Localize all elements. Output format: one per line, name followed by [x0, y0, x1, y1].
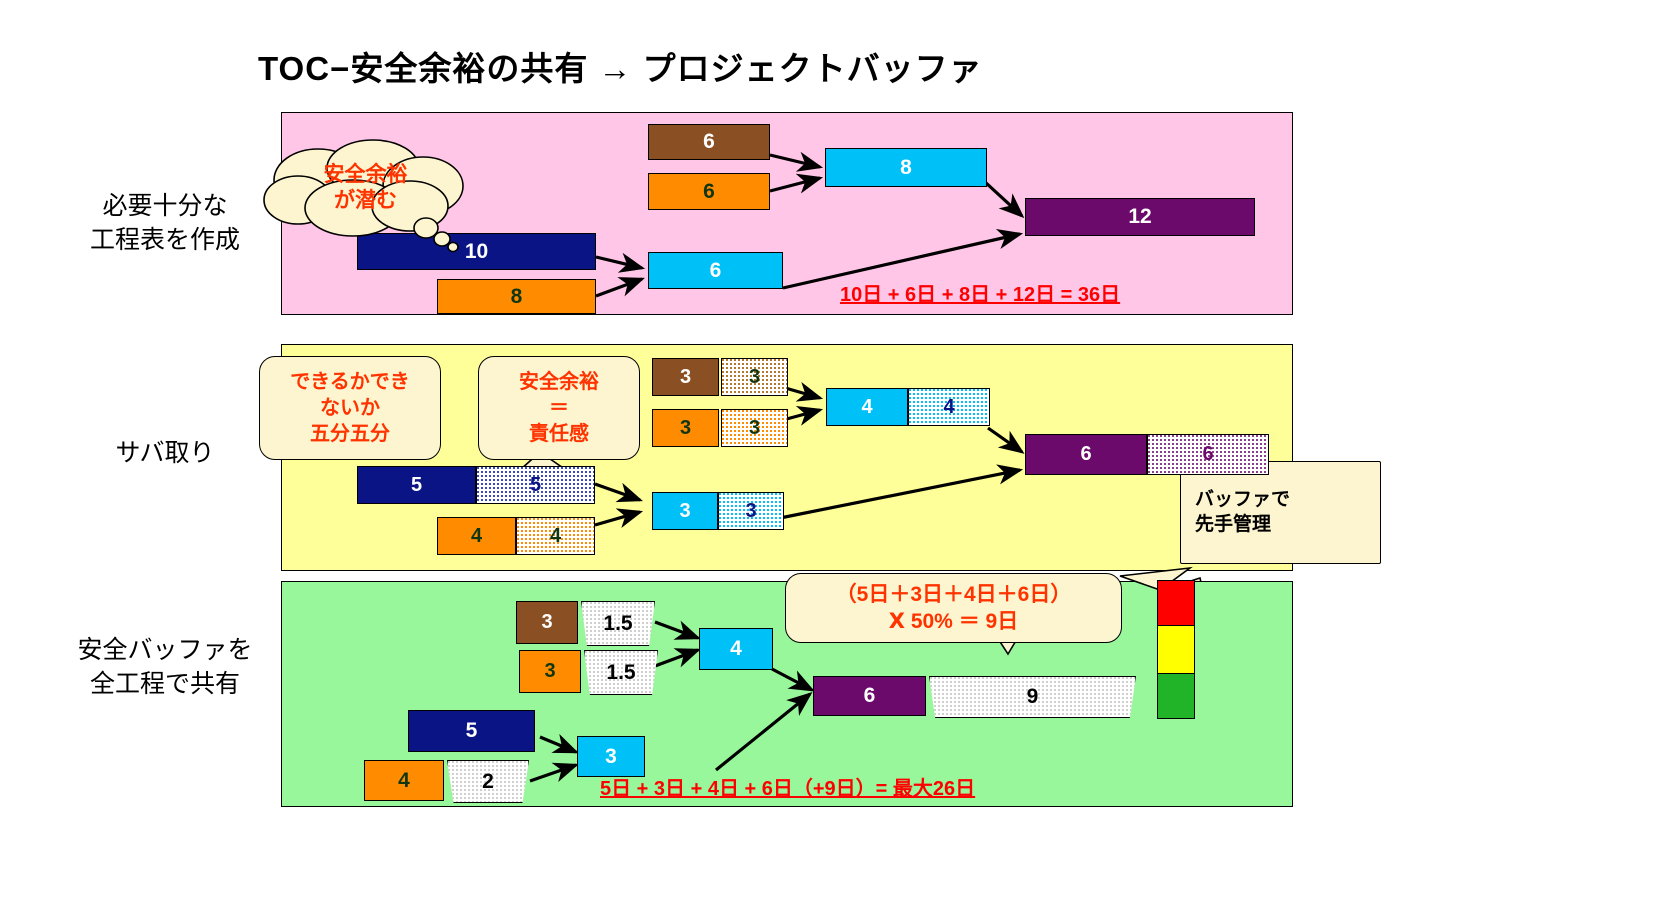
bar-cyan-3[interactable]: 3 [652, 492, 718, 530]
row-label-2-line1: サバ取り [60, 437, 270, 471]
buffer-zone-green [1158, 674, 1194, 718]
margin-cyan-4[interactable]: 4 [908, 388, 990, 426]
bar-navy-5[interactable]: 5 [357, 466, 476, 504]
bar-purple-6[interactable]: 6 [1025, 434, 1147, 475]
thought-cloud-safety-margin: 安全余裕 が潜む [258, 138, 473, 238]
row-label-1: 必要十分な 工程表を作成 [60, 190, 270, 258]
buffer-project-9[interactable]: 9 [929, 676, 1136, 718]
callout-responsibility-line2: ＝ [519, 395, 599, 421]
callout-fifty-fifty-line1: できるかでき [290, 369, 410, 395]
buffer-p3-orange-2[interactable]: 2 [447, 760, 529, 803]
bar-p3-brown-3[interactable]: 3 [516, 601, 578, 644]
margin-brown-3[interactable]: 3 [721, 358, 788, 396]
callout-buffer-calculation: （5日＋3日＋4日＋6日） Ⅹ 50% ＝ 9日 [785, 573, 1122, 643]
margin-purple-6[interactable]: 6 [1147, 434, 1269, 475]
bar-p3-orange-3[interactable]: 3 [519, 650, 581, 693]
margin-orange-4[interactable]: 4 [516, 517, 595, 555]
row-label-2: サバ取り [60, 437, 270, 471]
callout-buffer-line2: 先手管理 [1195, 513, 1290, 538]
bar-orange-4[interactable]: 4 [437, 517, 516, 555]
bar-cyan-6[interactable]: 6 [648, 252, 783, 289]
buffer-p3-orange-1_5[interactable]: 1.5 [584, 650, 658, 695]
callout-responsibility-line3: 責任感 [519, 421, 599, 447]
row-label-1-line2: 工程表を作成 [60, 224, 270, 258]
buffer-zone-red [1158, 581, 1194, 626]
bar-orange-8[interactable]: 8 [437, 279, 596, 314]
formula-panel1: 10日 + 6日 + 8日 + 12日 = 36日 [840, 278, 1120, 307]
bar-brown-6[interactable]: 6 [648, 124, 770, 160]
margin-cyan-3[interactable]: 3 [718, 492, 784, 530]
cloud-text: 安全余裕 が潜む [258, 162, 473, 215]
callout-fifty-fifty: できるかでき ないか 五分五分 [259, 356, 441, 460]
bar-orange-3[interactable]: 3 [652, 409, 719, 447]
callout-buffer-calc-line1: （5日＋3日＋4日＋6日） [836, 581, 1072, 608]
formula-panel3: 5日 + 3日 + 4日 + 6日（+9日）= 最大26日 [600, 772, 975, 801]
cloud-text-line2: が潜む [258, 188, 473, 214]
row-label-3: 安全バッファを 全工程で共有 [45, 634, 285, 702]
page-title: TOC−安全余裕の共有 → プロジェクトバッファ [258, 42, 983, 90]
buffer-p3-brown-1_5[interactable]: 1.5 [581, 601, 655, 646]
row-label-1-line1: 必要十分な [60, 190, 270, 224]
bar-purple-12[interactable]: 12 [1025, 198, 1255, 236]
bar-p3-navy-5[interactable]: 5 [408, 710, 535, 752]
bar-p3-cyan-4[interactable]: 4 [699, 628, 773, 670]
bar-p3-orange-4[interactable]: 4 [364, 760, 444, 801]
callout-fifty-fifty-line2: ないか [290, 395, 410, 421]
bar-brown-3[interactable]: 3 [652, 358, 719, 396]
callout-buffer-line1: バッファで [1195, 488, 1290, 513]
cloud-text-line1: 安全余裕 [258, 162, 473, 188]
margin-navy-5[interactable]: 5 [476, 466, 595, 504]
callout-fifty-fifty-line3: 五分五分 [290, 421, 410, 447]
bar-cyan-4[interactable]: 4 [826, 388, 908, 426]
margin-orange-3[interactable]: 3 [721, 409, 788, 447]
buffer-zone-yellow [1158, 626, 1194, 674]
bar-orange-6[interactable]: 6 [648, 173, 770, 210]
bar-cyan-8[interactable]: 8 [825, 148, 987, 187]
row-label-3-line1: 安全バッファを [45, 634, 285, 668]
buffer-traffic-light[interactable] [1157, 580, 1195, 719]
callout-buffer-management: バッファで 先手管理 [1180, 461, 1381, 564]
callout-buffer-calc-line2: Ⅹ 50% ＝ 9日 [836, 608, 1072, 635]
row-label-3-line2: 全工程で共有 [45, 668, 285, 702]
callout-responsibility: 安全余裕 ＝ 責任感 [478, 356, 640, 460]
bar-p3-purple-6[interactable]: 6 [813, 676, 926, 716]
callout-responsibility-line1: 安全余裕 [519, 369, 599, 395]
bar-p3-cyan-3[interactable]: 3 [577, 736, 645, 777]
